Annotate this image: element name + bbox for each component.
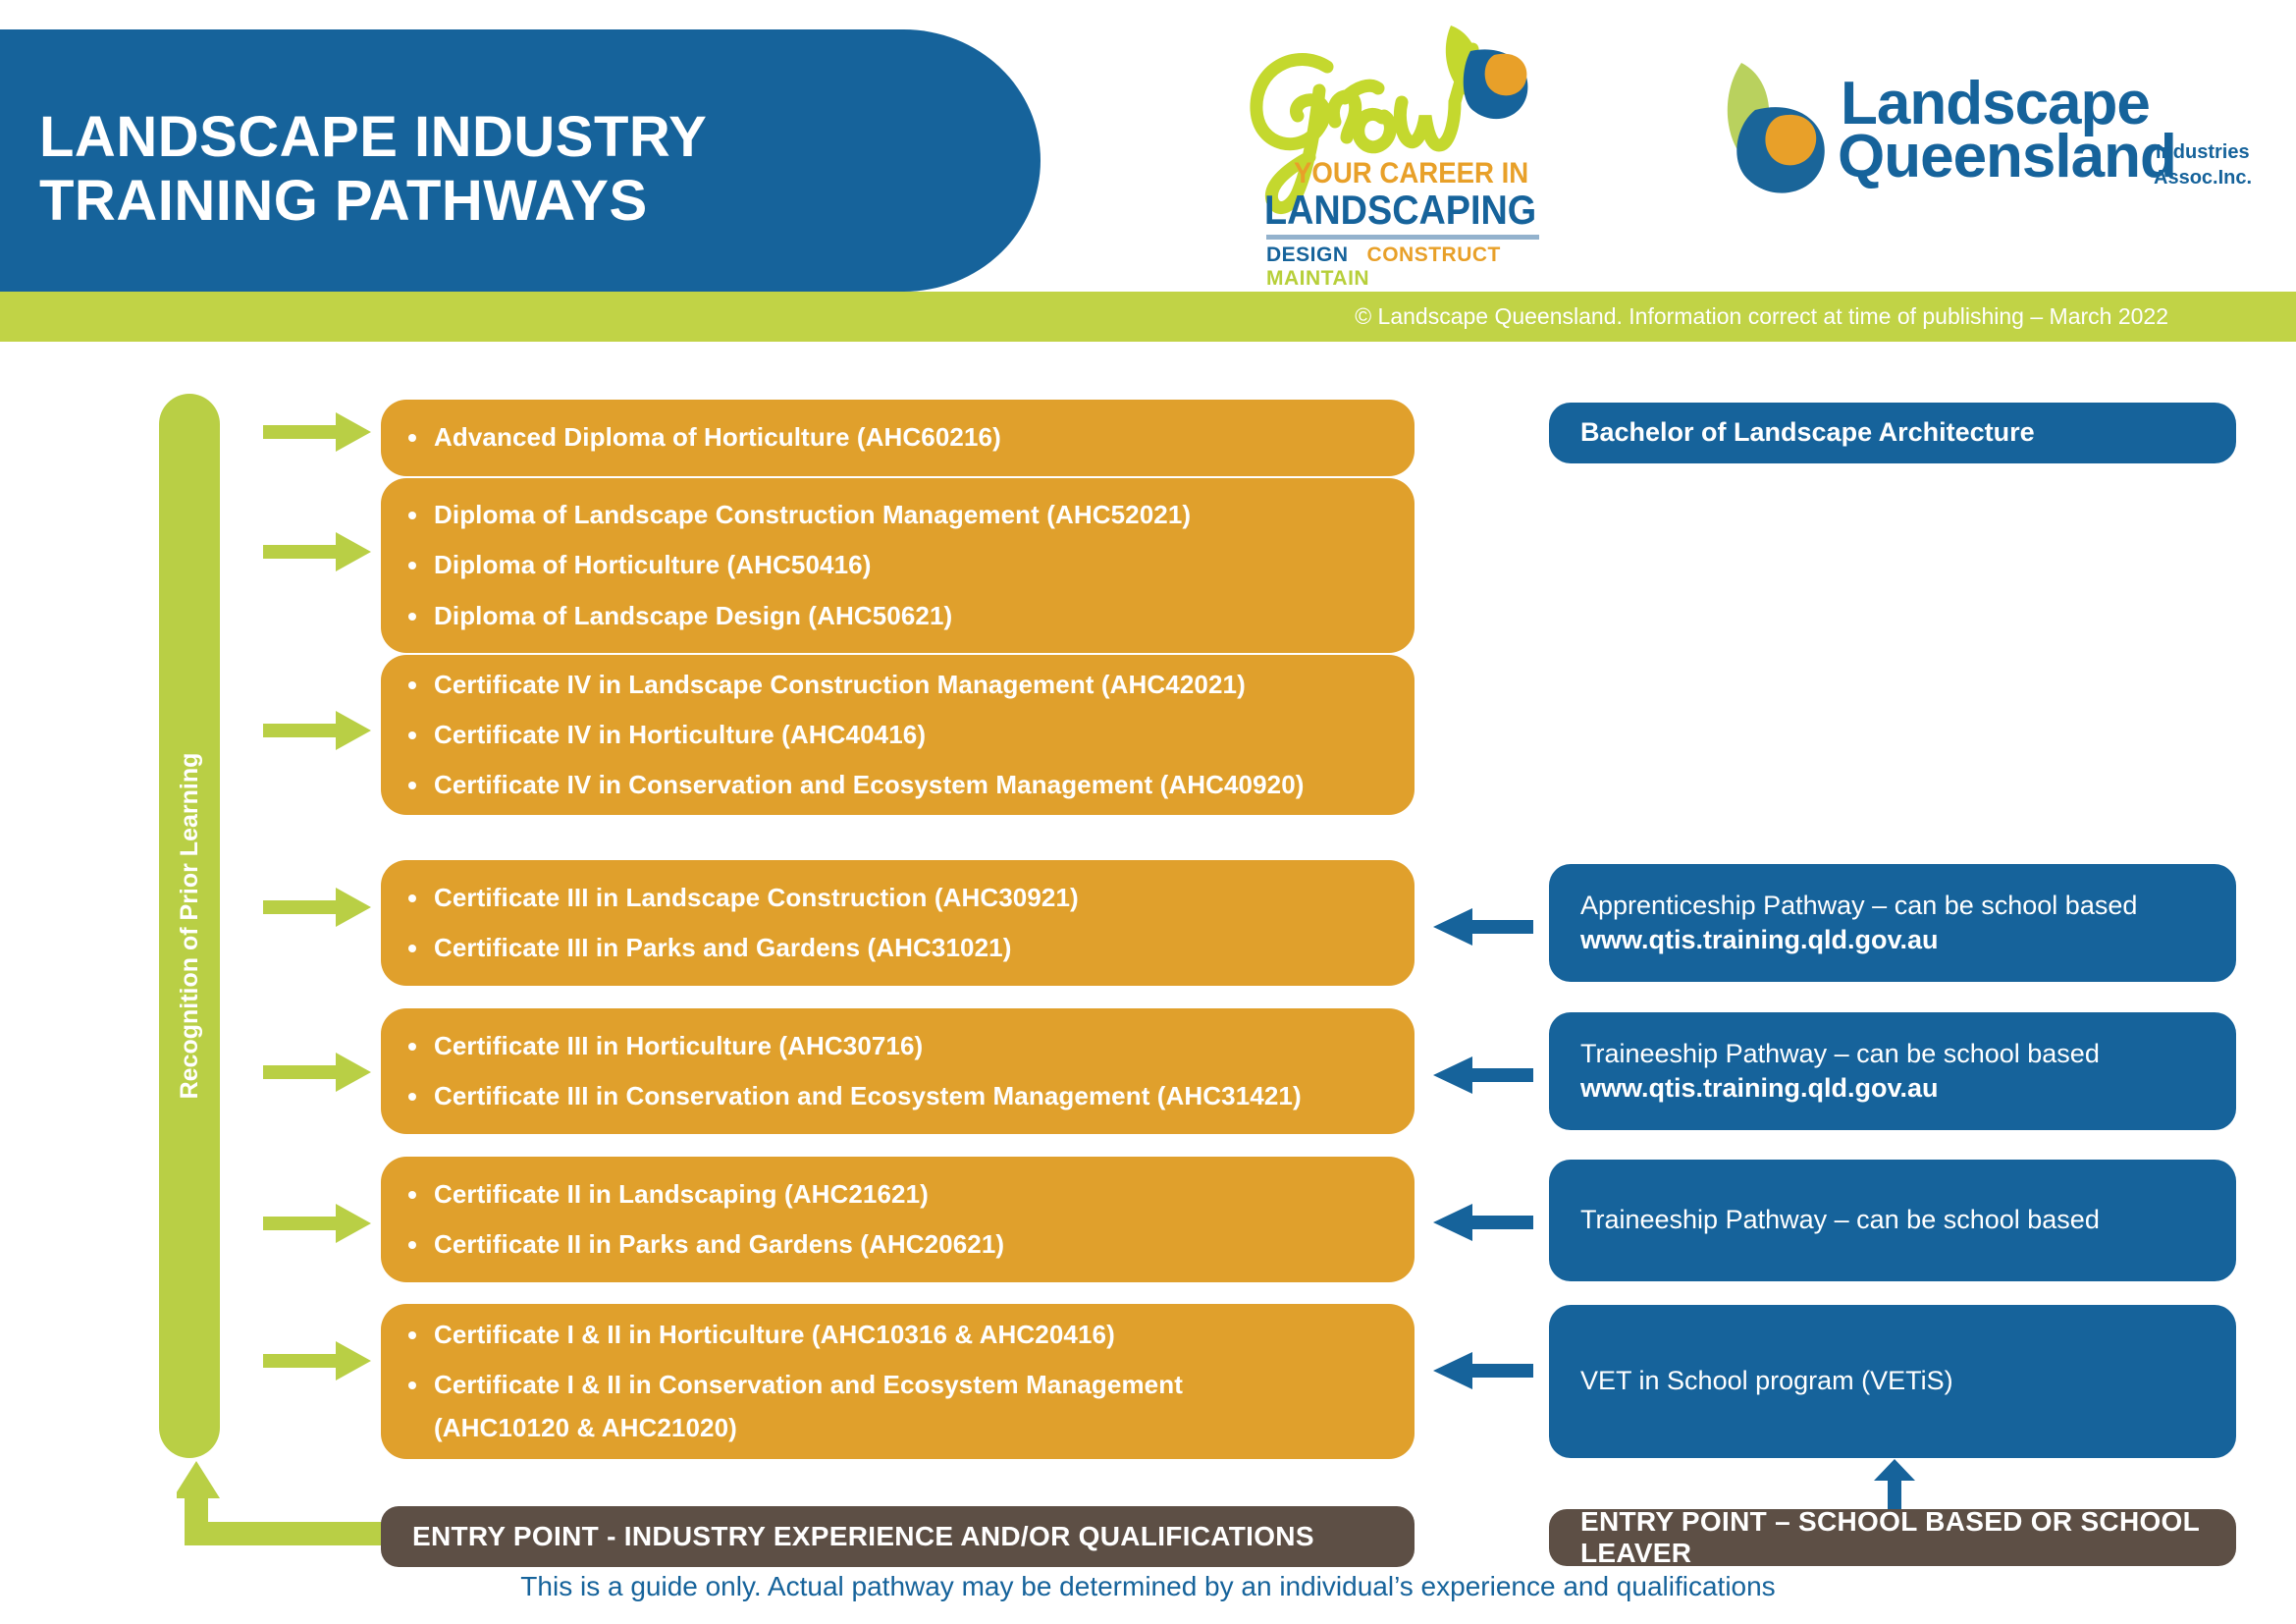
list-item: Diploma of Landscape Construction Manage…: [400, 501, 1415, 529]
tagline-design: DESIGN: [1266, 244, 1349, 266]
pathway-box-apprenticeship[interactable]: Apprenticeship Pathway – can be school b…: [1549, 864, 2236, 982]
pathway-line-1: Traineeship Pathway – can be school base…: [1580, 1203, 2236, 1237]
qualification-box-certificate-iii-construction[interactable]: Certificate III in Landscape Constructio…: [381, 860, 1415, 986]
grow-tagline: DESIGN CONSTRUCT MAINTAIN: [1266, 244, 1551, 291]
pathway-line-1: Apprenticeship Pathway – can be school b…: [1580, 889, 2236, 923]
list-item: Diploma of Horticulture (AHC50416): [400, 551, 1415, 579]
pathway-arrow-cert2: [1433, 1204, 1533, 1246]
lq-sub-industries: Industries: [2156, 141, 2250, 164]
qualification-box-diplomas[interactable]: Diploma of Landscape Construction Manage…: [381, 478, 1415, 653]
pathway-box-traineeship-cert3[interactable]: Traineeship Pathway – can be school base…: [1549, 1012, 2236, 1130]
lq-leaf-icon: [1698, 57, 1836, 204]
grow-landscaping-text: LANDSCAPING: [1264, 187, 1536, 234]
pathway-box-bachelor[interactable]: Bachelor of Landscape Architecture: [1549, 403, 2236, 463]
qualification-box-certificate-iv[interactable]: Certificate IV in Landscape Construction…: [381, 655, 1415, 815]
pathway-line-1: Traineeship Pathway – can be school base…: [1580, 1037, 2236, 1071]
rpl-arrow-3: [263, 711, 371, 755]
qualification-list: Certificate II in Landscaping (AHC21621)…: [400, 1180, 1415, 1259]
grow-your-career-logo: YOUR CAREER IN LANDSCAPING DESIGN CONSTR…: [1237, 8, 1571, 273]
qualification-list: Diploma of Landscape Construction Manage…: [400, 501, 1415, 629]
rpl-arrow-5: [263, 1053, 371, 1097]
rpl-label: Recognition of Prior Learning: [159, 394, 220, 1458]
entry-point-school[interactable]: ENTRY POINT – SCHOOL BASED OR SCHOOL LEA…: [1549, 1509, 2236, 1566]
lq-sub-assoc: Assoc.Inc.: [2154, 167, 2252, 189]
list-item: Certificate IV in Horticulture (AHC40416…: [400, 721, 1415, 749]
entry-point-industry[interactable]: ENTRY POINT - INDUSTRY EXPERIENCE AND/OR…: [381, 1506, 1415, 1567]
entry-point-school-label: ENTRY POINT – SCHOOL BASED OR SCHOOL LEA…: [1580, 1506, 2236, 1569]
rpl-arrow-7: [263, 1341, 371, 1385]
list-item: Advanced Diploma of Horticulture (AHC602…: [400, 423, 1415, 452]
list-item: Certificate III in Horticulture (AHC3071…: [400, 1032, 1415, 1060]
qualification-list: Advanced Diploma of Horticulture (AHC602…: [400, 423, 1415, 452]
list-item: Certificate II in Parks and Gardens (AHC…: [400, 1230, 1415, 1259]
list-item: (AHC10120 & AHC21020): [400, 1414, 1415, 1442]
list-item: Certificate II in Landscaping (AHC21621): [400, 1180, 1415, 1209]
grow-divider: [1266, 235, 1539, 240]
pathway-box-vetis[interactable]: VET in School program (VETiS): [1549, 1305, 2236, 1458]
grow-career-text: YOUR CAREER IN: [1294, 157, 1528, 190]
qualification-list: Certificate III in Horticulture (AHC3071…: [400, 1032, 1415, 1110]
tagline-construct: CONSTRUCT: [1367, 244, 1501, 266]
list-item: Certificate III in Conservation and Ecos…: [400, 1082, 1415, 1110]
rpl-arrow-6: [263, 1204, 371, 1248]
pathway-arrow-vetis: [1433, 1352, 1533, 1394]
list-item: Diploma of Landscape Design (AHC50621): [400, 602, 1415, 630]
rpl-arrow-1: [263, 412, 371, 457]
list-item: Certificate I & II in Horticulture (AHC1…: [400, 1321, 1415, 1349]
qualification-list: Certificate III in Landscape Constructio…: [400, 884, 1415, 962]
qualification-box-advanced-diploma[interactable]: Advanced Diploma of Horticulture (AHC602…: [381, 400, 1415, 476]
qualification-box-certificate-iii-horticulture[interactable]: Certificate III in Horticulture (AHC3071…: [381, 1008, 1415, 1134]
list-item: Certificate IV in Landscape Construction…: [400, 671, 1415, 699]
list-item: Certificate III in Parks and Gardens (AH…: [400, 934, 1415, 962]
pathway-url[interactable]: www.qtis.training.qld.gov.au: [1580, 1071, 2236, 1106]
qualification-box-certificate-i-ii[interactable]: Certificate I & II in Horticulture (AHC1…: [381, 1304, 1415, 1459]
pathway-line-1: VET in School program (VETiS): [1580, 1364, 2236, 1398]
pathway-arrow-cert3-horticulture: [1433, 1056, 1533, 1099]
tagline-maintain: MAINTAIN: [1266, 267, 1369, 290]
list-item: Certificate I & II in Conservation and E…: [400, 1371, 1415, 1399]
page-title: LANDSCAPE INDUSTRY TRAINING PATHWAYS: [39, 106, 903, 234]
copyright-text: © Landscape Queensland. Information corr…: [1355, 292, 2168, 342]
recognition-of-prior-learning-bar: Recognition of Prior Learning: [159, 394, 220, 1458]
qualification-list: Certificate IV in Landscape Construction…: [400, 671, 1415, 799]
header-blue-banner: LANDSCAPE INDUSTRY TRAINING PATHWAYS: [0, 29, 1041, 292]
copyright-band: © Landscape Queensland. Information corr…: [0, 292, 2296, 342]
pathway-line-1: Bachelor of Landscape Architecture: [1580, 415, 2236, 450]
pathway-arrow-cert3-construction: [1433, 908, 1533, 950]
pathway-box-traineeship-cert2[interactable]: Traineeship Pathway – can be school base…: [1549, 1160, 2236, 1281]
lq-line2: Queensland: [1838, 122, 2176, 191]
entry-to-rpl-arrow: [177, 1461, 412, 1569]
list-item: Certificate III in Landscape Constructio…: [400, 884, 1415, 912]
entry-point-industry-label: ENTRY POINT - INDUSTRY EXPERIENCE AND/OR…: [412, 1521, 1314, 1552]
list-item: Certificate IV in Conservation and Ecosy…: [400, 771, 1415, 799]
footer-note: This is a guide only. Actual pathway may…: [0, 1571, 2296, 1602]
rpl-arrow-2: [263, 532, 371, 576]
qualification-box-certificate-ii[interactable]: Certificate II in Landscaping (AHC21621)…: [381, 1157, 1415, 1282]
qualification-list: Certificate I & II in Horticulture (AHC1…: [400, 1321, 1415, 1441]
pathway-url[interactable]: www.qtis.training.qld.gov.au: [1580, 923, 2236, 957]
landscape-queensland-logo: Landscape Queensland Industries Assoc.In…: [1698, 57, 2248, 214]
rpl-arrow-4: [263, 888, 371, 932]
